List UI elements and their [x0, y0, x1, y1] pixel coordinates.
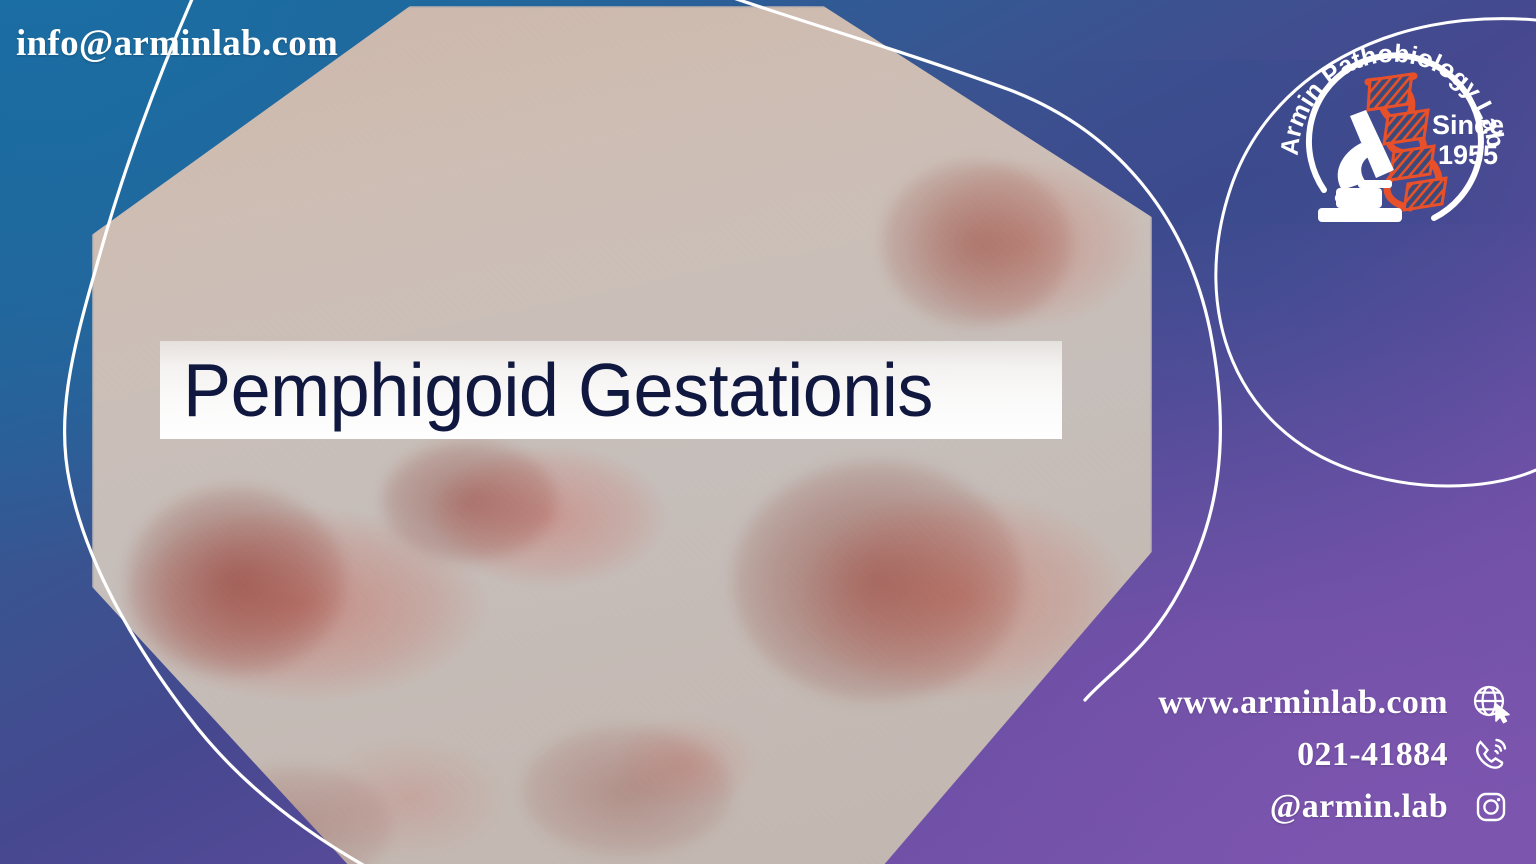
logo-since-line1: Since	[1432, 110, 1504, 140]
phone-call-icon[interactable]	[1470, 734, 1512, 776]
email-address[interactable]: info@arminlab.com	[16, 22, 338, 65]
instagram-icon[interactable]	[1470, 786, 1512, 828]
website-label[interactable]: www.arminlab.com	[1112, 684, 1448, 722]
company-logo[interactable]: Armin Pathobiology Lab Since 1955	[1262, 12, 1524, 274]
title-band: Pemphigoid Gestationis	[160, 341, 1062, 439]
slide-canvas: info@arminlab.com Pemphigoid Gestationis…	[0, 0, 1536, 864]
globe-cursor-icon[interactable]	[1470, 682, 1512, 724]
contact-block: www.arminlab.com 021-41884	[1112, 682, 1512, 828]
logo-since-line2: 1955	[1438, 140, 1498, 170]
contact-row-instagram[interactable]: @armin.lab	[1112, 786, 1512, 828]
contact-row-phone[interactable]: 021-41884	[1112, 734, 1512, 776]
page-title: Pemphigoid Gestationis	[160, 353, 933, 428]
instagram-label[interactable]: @armin.lab	[1112, 788, 1448, 826]
contact-row-website[interactable]: www.arminlab.com	[1112, 682, 1512, 724]
phone-label[interactable]: 021-41884	[1112, 736, 1448, 774]
